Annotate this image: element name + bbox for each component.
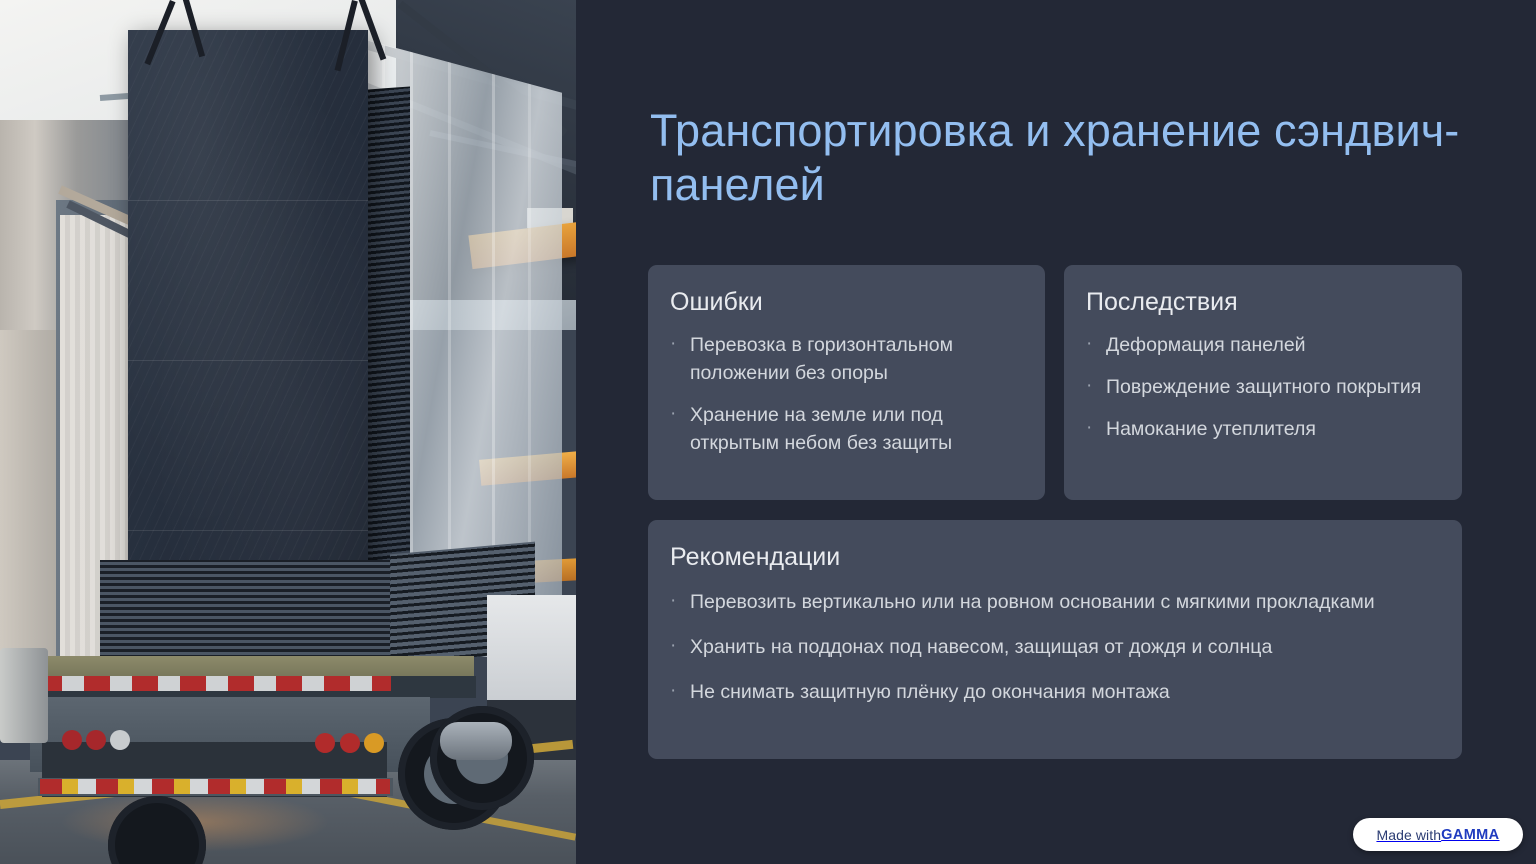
card-bullet-list: · Перевозка в горизонтальном положении б… [648,331,1045,471]
card-posledstviya: Последствия · Деформация панелей · Повре… [1064,265,1462,500]
gamma-wordmark: GAMMA [1441,827,1499,843]
card-heading: Рекомендации [670,543,840,572]
list-item-text: Деформация панелей [1106,331,1306,359]
photo-indicator-light [364,733,384,753]
photo-reflective-stripe [40,779,390,794]
card-heading: Ошибки [670,288,763,317]
photo-barrel [0,648,48,743]
card-bullet-list: · Деформация панелей · Повреждение защит… [1064,331,1462,457]
page-title: Транспортировка и хранение сэндвич-панел… [650,104,1470,212]
bullet-dot-icon: · [668,401,690,427]
bullet-dot-icon: · [668,588,690,614]
card-rekomendacii: Рекомендации · Перевозить вертикально ил… [648,520,1462,759]
list-item-text: Перевозить вертикально или на ровном осн… [690,588,1375,616]
slide: Транспортировка и хранение сэндвич-панел… [0,0,1536,864]
photo-tail-light [315,733,335,753]
photo-fuel-tank [440,722,512,760]
list-item-text: Хранить на поддонах под навесом, защищая… [690,633,1272,661]
list-item-text: Перевозка в горизонтальном положении без… [690,331,1020,387]
bullet-dot-icon: · [668,331,690,357]
card-heading: Последствия [1086,288,1238,317]
bullet-dot-icon: · [1084,373,1106,399]
list-item-text: Повреждение защитного покрытия [1106,373,1421,401]
bullet-dot-icon: · [1084,331,1106,357]
list-item-text: Не снимать защитную плёнку до окончания … [690,678,1170,706]
bullet-dot-icon: · [1084,415,1106,441]
bullet-dot-icon: · [668,633,690,659]
badge-prefix-label: Made with [1376,827,1441,843]
card-oshibki: Ошибки · Перевозка в горизонтальном поло… [648,265,1045,500]
list-item-text: Намокание утеплителя [1106,415,1316,443]
photo-tail-light [340,733,360,753]
photo-panel-edges [100,560,400,670]
sandwich-panel-truck-photo [0,0,576,864]
photo-panel-stack [128,30,368,640]
card-bullet-list: · Перевозить вертикально или на ровном о… [648,588,1462,723]
list-item-text: Хранение на земле или под открытым небом… [690,401,1020,457]
list-item: · Намокание утеплителя [1084,415,1442,443]
photo-reflective-stripe [36,676,391,691]
list-item: · Деформация панелей [1084,331,1442,359]
made-with-gamma-badge[interactable]: Made with GAMMA [1353,818,1523,851]
list-item: · Перевозить вертикально или на ровном о… [668,588,1442,616]
list-item: · Не снимать защитную плёнку до окончани… [668,678,1442,706]
photo-tail-light [62,730,82,750]
list-item: · Хранить на поддонах под навесом, защищ… [668,633,1442,661]
list-item: · Перевозка в горизонтальном положении б… [668,331,1025,387]
bullet-dot-icon: · [668,678,690,704]
photo-reverse-light [110,730,130,750]
photo-tail-light [86,730,106,750]
list-item: · Повреждение защитного покрытия [1084,373,1442,401]
content-panel: Транспортировка и хранение сэндвич-панел… [576,0,1536,864]
list-item: · Хранение на земле или под открытым неб… [668,401,1025,457]
